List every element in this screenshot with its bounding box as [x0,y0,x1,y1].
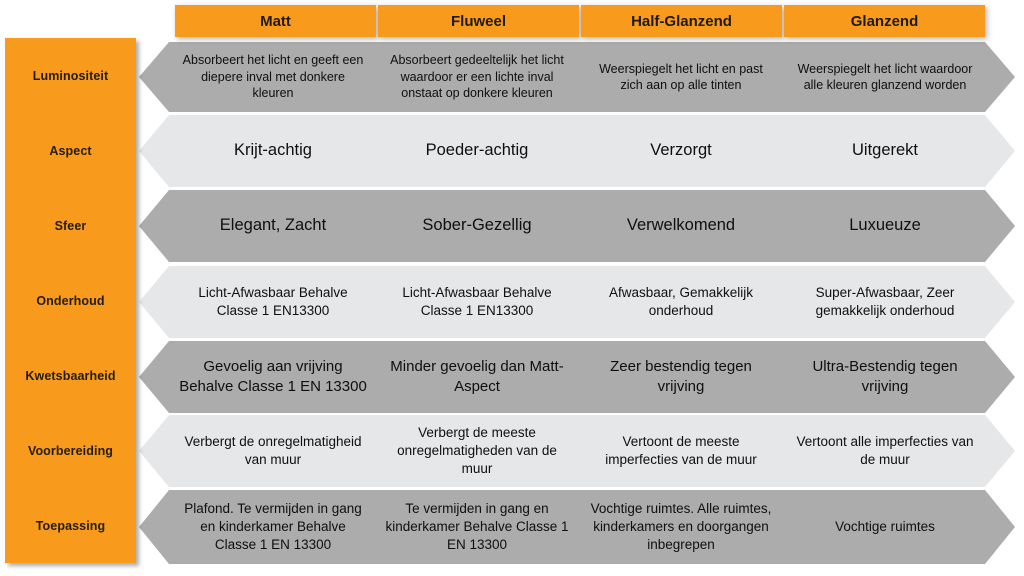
matrix-cell: Verbergt de meeste onregelmatigheden van… [375,415,579,487]
matrix-cell: Afwasbaar, Gemakkelijk onderhoud [579,266,783,338]
matrix-cell-text: Verbergt de meeste onregelmatigheden van… [383,424,571,477]
category-label: Luminositeit [33,69,109,83]
matrix-cell-text: Absorbeert het licht en geeft een dieper… [179,52,367,102]
matrix-cell: Gevoelig aan vrijving Behalve Classe 1 E… [139,341,375,413]
matrix-cell-text: Afwasbaar, Gemakkelijk onderhoud [587,284,775,320]
category-label-toepassing: Toepassing [5,488,136,563]
matrix-cell: Vochtige ruimtes. Alle ruimtes, kinderka… [579,490,783,564]
matrix-cell-text: Super-Afwasbaar, Zeer gemakkelijk onderh… [791,284,979,320]
column-header-matt: Matt [175,5,376,37]
matrix-cell: Ultra-Bestendig tegen vrijving [783,341,1015,413]
matrix-cell: Krijt-achtig [139,115,375,187]
matrix-cell: Vertoont de meeste imperfecties van de m… [579,415,783,487]
matrix-cell-text: Luxueuze [791,215,979,237]
matrix-row: Absorbeert het licht en geeft een dieper… [139,42,1015,112]
category-label-voorbereiding: Voorbereiding [5,413,136,488]
matrix-row: Plafond. Te vermijden in gang en kinderk… [139,490,1015,564]
matrix-cell-text: Verzorgt [587,140,775,162]
matrix-cell: Luxueuze [783,190,1015,262]
category-label-kwetsbaarheid: Kwetsbaarheid [5,338,136,413]
matrix-cell-text: Gevoelig aan vrijving Behalve Classe 1 E… [179,357,367,397]
matrix-cell-text: Licht-Afwasbaar Behalve Classe 1 EN13300 [383,284,571,320]
category-label-aspect: Aspect [5,113,136,188]
matrix-cell: Verzorgt [579,115,783,187]
matrix-cell-text: Plafond. Te vermijden in gang en kinderk… [179,500,367,553]
matrix-row: Krijt-achtigPoeder-achtigVerzorgtUitgere… [139,115,1015,187]
category-label-luminositeit: Luminositeit [5,38,136,113]
column-header-half-glanzend: Half-Glanzend [581,5,782,37]
matrix-cell: Zeer bestendig tegen vrijving [579,341,783,413]
column-header-row: Matt Fluweel Half-Glanzend Glanzend [175,5,985,37]
matrix-cell: Uitgerekt [783,115,1015,187]
matrix-cell: Super-Afwasbaar, Zeer gemakkelijk onderh… [783,266,1015,338]
matrix-cell: Elegant, Zacht [139,190,375,262]
matrix-cell: Weerspiegelt het licht en past zich aan … [579,42,783,112]
matrix-cell: Plafond. Te vermijden in gang en kinderk… [139,490,375,564]
matrix-cell-text: Zeer bestendig tegen vrijving [587,357,775,397]
column-header-label: Fluweel [451,13,506,30]
matrix-cell-text: Vochtige ruimtes [791,518,979,536]
matrix-cell-text: Absorbeert gedeeltelijk het licht waardo… [383,52,571,102]
matrix-cell-text: Weerspiegelt het licht waardoor alle kle… [791,61,979,94]
column-header-label: Matt [260,13,291,30]
matrix-row: Elegant, ZachtSober-GezelligVerwelkomend… [139,190,1015,262]
matrix-cell-text: Minder gevoelig dan Matt-Aspect [383,357,571,397]
matrix-cell-text: Vertoont alle imperfecties van de muur [791,433,979,469]
matrix-cell-text: Vertoont de meeste imperfecties van de m… [587,433,775,469]
matrix-cell: Sober-Gezellig [375,190,579,262]
matrix-cell: Poeder-achtig [375,115,579,187]
matrix-cell-text: Verwelkomend [587,215,775,237]
matrix-cell-text: Te vermijden in gang en kinderkamer Beha… [383,500,571,553]
matrix-cell-text: Elegant, Zacht [179,215,367,237]
category-label-sfeer: Sfeer [5,188,136,263]
matrix-row: Licht-Afwasbaar Behalve Classe 1 EN13300… [139,266,1015,338]
matrix-row: Gevoelig aan vrijving Behalve Classe 1 E… [139,341,1015,413]
matrix-cell: Licht-Afwasbaar Behalve Classe 1 EN13300 [139,266,375,338]
matrix-cell-text: Uitgerekt [791,140,979,162]
matrix-cell-text: Licht-Afwasbaar Behalve Classe 1 EN13300 [179,284,367,320]
matrix-cell: Verwelkomend [579,190,783,262]
matrix-cell-text: Weerspiegelt het licht en past zich aan … [587,61,775,94]
category-label: Toepassing [36,519,106,533]
category-panel: Luminositeit Aspect Sfeer Onderhoud Kwet… [5,38,136,563]
column-header-label: Half-Glanzend [631,13,732,30]
matrix-cell: Vochtige ruimtes [783,490,1015,564]
comparison-matrix: Matt Fluweel Half-Glanzend Glanzend Lumi… [0,0,1024,576]
matrix-cell-text: Poeder-achtig [383,140,571,162]
column-header-glanzend: Glanzend [784,5,985,37]
matrix-cell: Verbergt de onregelmatigheid van muur [139,415,375,487]
category-label: Aspect [49,144,91,158]
matrix-cell: Weerspiegelt het licht waardoor alle kle… [783,42,1015,112]
matrix-cell: Te vermijden in gang en kinderkamer Beha… [375,490,579,564]
matrix-row: Verbergt de onregelmatigheid van muurVer… [139,415,1015,487]
matrix-cell: Licht-Afwasbaar Behalve Classe 1 EN13300 [375,266,579,338]
category-label: Voorbereiding [28,444,113,458]
matrix-cell: Absorbeert gedeeltelijk het licht waardo… [375,42,579,112]
category-label: Sfeer [55,219,87,233]
category-label: Kwetsbaarheid [25,369,115,383]
matrix-cell-text: Sober-Gezellig [383,215,571,237]
column-header-fluweel: Fluweel [378,5,579,37]
matrix-cell: Absorbeert het licht en geeft een dieper… [139,42,375,112]
matrix-cell-text: Krijt-achtig [179,140,367,162]
category-label: Onderhoud [36,294,104,308]
column-header-label: Glanzend [851,13,919,30]
matrix-cell-text: Ultra-Bestendig tegen vrijving [791,357,979,397]
matrix-cell-text: Verbergt de onregelmatigheid van muur [179,433,367,469]
matrix-rows: Absorbeert het licht en geeft een dieper… [0,0,1024,576]
matrix-cell: Vertoont alle imperfecties van de muur [783,415,1015,487]
matrix-cell-text: Vochtige ruimtes. Alle ruimtes, kinderka… [587,500,775,553]
matrix-cell: Minder gevoelig dan Matt-Aspect [375,341,579,413]
category-label-onderhoud: Onderhoud [5,263,136,338]
